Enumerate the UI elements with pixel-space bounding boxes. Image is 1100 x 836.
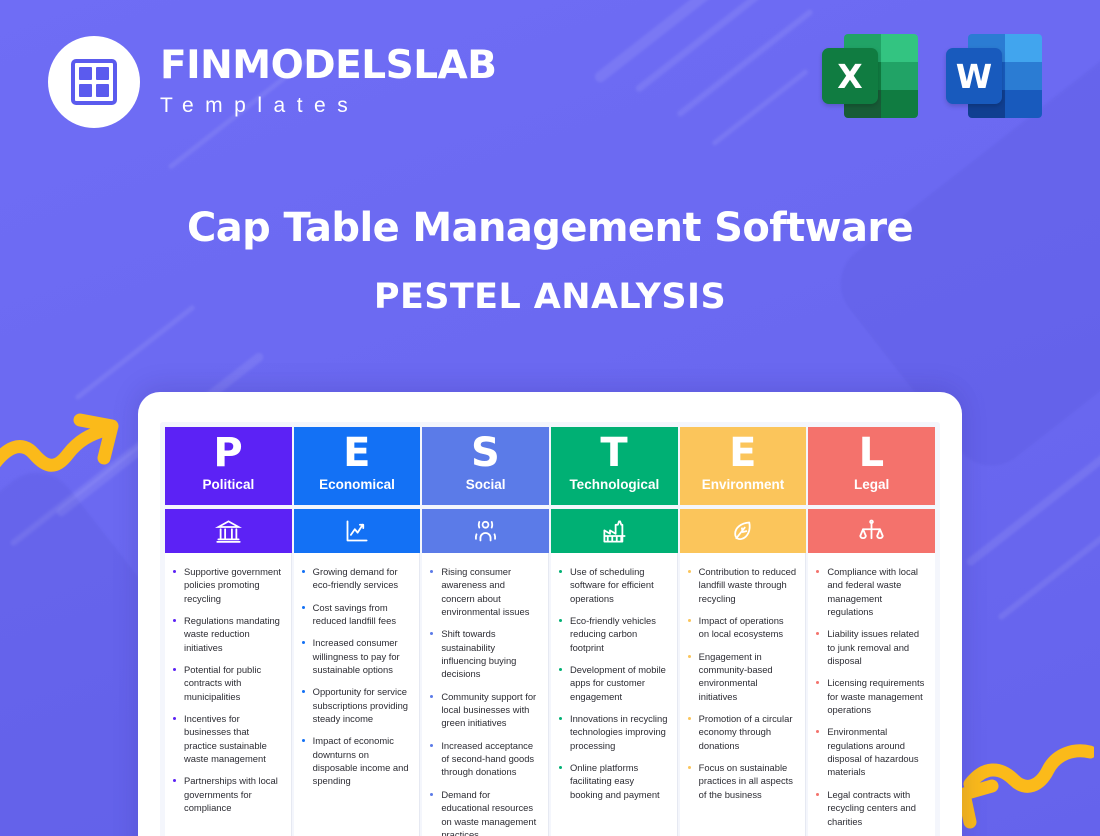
brand-mark-circle bbox=[48, 36, 140, 128]
list-item: Supportive government policies promoting… bbox=[171, 565, 282, 605]
list-item: Impact of economic downturns on disposab… bbox=[300, 734, 411, 787]
list-item: Compliance with local and federal waste … bbox=[814, 565, 926, 618]
list-item: Incentives for businesses that practice … bbox=[171, 712, 282, 765]
pestel-letter: L bbox=[859, 434, 885, 472]
pestel-letter: T bbox=[600, 434, 628, 472]
pestel-items-social: Rising consumer awareness and concern ab… bbox=[422, 553, 549, 836]
pestel-items-economical: Growing demand for eco-friendly services… bbox=[294, 553, 421, 836]
page-title: Cap Table Management Software bbox=[0, 205, 1100, 251]
pestel-header-environment[interactable]: EEnvironment bbox=[680, 427, 807, 505]
list-item: Potential for public contracts with muni… bbox=[171, 663, 282, 703]
pestel-items-environment: Contribution to reduced landfill waste t… bbox=[680, 553, 807, 836]
pestel-category-label: Economical bbox=[319, 477, 395, 492]
tablet-device-frame: PPoliticalSupportive government policies… bbox=[138, 392, 962, 836]
list-item: Legal contracts with recycling centers a… bbox=[814, 788, 926, 828]
list-item: Impact of operations on local ecosystems bbox=[686, 614, 797, 641]
excel-badge-letter: X bbox=[822, 48, 878, 104]
pestel-items-legal: Compliance with local and federal waste … bbox=[808, 553, 935, 836]
pestel-item-list: Supportive government policies promoting… bbox=[171, 565, 282, 815]
word-file-icon: W bbox=[946, 28, 1042, 124]
list-item: Environmental regulations around disposa… bbox=[814, 725, 926, 778]
list-item: Demand for educational resources on wast… bbox=[428, 788, 539, 836]
list-item: Increased acceptance of second-hand good… bbox=[428, 739, 539, 779]
pestel-column-political: PPoliticalSupportive government policies… bbox=[165, 427, 292, 836]
squiggle-arrow-up-right-icon bbox=[0, 408, 138, 498]
pestel-letter: E bbox=[343, 434, 371, 472]
grid-squares-icon bbox=[71, 59, 117, 105]
bank-icon bbox=[165, 509, 292, 553]
pestel-category-label: Technological bbox=[569, 477, 659, 492]
pestel-column-environment: EEnvironmentContribution to reduced land… bbox=[680, 427, 807, 836]
brand-name: FINMODELSLAB bbox=[160, 46, 496, 85]
list-item: Increased consumer willingness to pay fo… bbox=[300, 636, 411, 676]
pestel-items-technological: Use of scheduling software for efficient… bbox=[551, 553, 678, 836]
pestel-item-list: Growing demand for eco-friendly services… bbox=[300, 565, 411, 788]
pestel-grid: PPoliticalSupportive government policies… bbox=[165, 427, 935, 836]
pestel-category-label: Legal bbox=[854, 477, 889, 492]
pestel-column-legal: LLegalCompliance with local and federal … bbox=[808, 427, 935, 836]
pestel-item-list: Compliance with local and federal waste … bbox=[814, 565, 926, 828]
pestel-header-technological[interactable]: TTechnological bbox=[551, 427, 678, 505]
pestel-item-list: Contribution to reduced landfill waste t… bbox=[686, 565, 797, 801]
title-block: Cap Table Management Software PESTEL ANA… bbox=[0, 205, 1100, 317]
factory-icon bbox=[551, 509, 678, 553]
pestel-letter: S bbox=[471, 434, 500, 472]
list-item: Regulations mandating waste reduction in… bbox=[171, 614, 282, 654]
pestel-item-list: Use of scheduling software for efficient… bbox=[557, 565, 668, 801]
pestel-header-economical[interactable]: EEconomical bbox=[294, 427, 421, 505]
page-header: FINMODELSLAB Templates X W bbox=[0, 0, 1100, 150]
pestel-category-label: Social bbox=[466, 477, 506, 492]
list-item: Engagement in community-based environmen… bbox=[686, 650, 797, 703]
line-chart-icon bbox=[294, 509, 421, 553]
pestel-category-label: Environment bbox=[702, 477, 785, 492]
list-item: Opportunity for service subscriptions pr… bbox=[300, 685, 411, 725]
pestel-header-social[interactable]: SSocial bbox=[422, 427, 549, 505]
pestel-category-label: Political bbox=[202, 477, 254, 492]
list-item: Partnerships with local governments for … bbox=[171, 774, 282, 814]
list-item: Use of scheduling software for efficient… bbox=[557, 565, 668, 605]
list-item: Liability issues related to junk removal… bbox=[814, 627, 926, 667]
file-format-badges: X W bbox=[822, 28, 1042, 124]
list-item: Promotion of a circular economy through … bbox=[686, 712, 797, 752]
list-item: Rising consumer awareness and concern ab… bbox=[428, 565, 539, 618]
list-item: Innovations in recycling technologies im… bbox=[557, 712, 668, 752]
pestel-header-legal[interactable]: LLegal bbox=[808, 427, 935, 505]
list-item: Licensing requirements for waste managem… bbox=[814, 676, 926, 716]
list-item: Community support for local businesses w… bbox=[428, 690, 539, 730]
pestel-letter: P bbox=[213, 434, 243, 472]
pestel-header-political[interactable]: PPolitical bbox=[165, 427, 292, 505]
pestel-column-economical: EEconomicalGrowing demand for eco-friend… bbox=[294, 427, 421, 836]
list-item: Cost savings from reduced landfill fees bbox=[300, 601, 411, 628]
scales-icon bbox=[808, 509, 935, 553]
pestel-letter: E bbox=[729, 434, 757, 472]
pestel-item-list: Rising consumer awareness and concern ab… bbox=[428, 565, 539, 836]
leaf-icon bbox=[680, 509, 807, 553]
list-item: Online platforms facilitating easy booki… bbox=[557, 761, 668, 801]
list-item: Contribution to reduced landfill waste t… bbox=[686, 565, 797, 605]
people-icon bbox=[422, 509, 549, 553]
list-item: Shift towards sustainability influencing… bbox=[428, 627, 539, 680]
list-item: Development of mobile apps for customer … bbox=[557, 663, 668, 703]
brand-logo: FINMODELSLAB Templates bbox=[48, 36, 496, 128]
excel-file-icon: X bbox=[822, 28, 918, 124]
pestel-items-political: Supportive government policies promoting… bbox=[165, 553, 292, 836]
page-subtitle: PESTEL ANALYSIS bbox=[0, 277, 1100, 317]
list-item: Focus on sustainable practices in all as… bbox=[686, 761, 797, 801]
brand-subtitle: Templates bbox=[160, 90, 496, 122]
list-item: Eco-friendly vehicles reducing carbon fo… bbox=[557, 614, 668, 654]
pestel-matrix-frame: PPoliticalSupportive government policies… bbox=[160, 422, 940, 836]
word-badge-letter: W bbox=[946, 48, 1002, 104]
list-item: Growing demand for eco-friendly services bbox=[300, 565, 411, 592]
pestel-column-social: SSocialRising consumer awareness and con… bbox=[422, 427, 549, 836]
pestel-column-technological: TTechnologicalUse of scheduling software… bbox=[551, 427, 678, 836]
